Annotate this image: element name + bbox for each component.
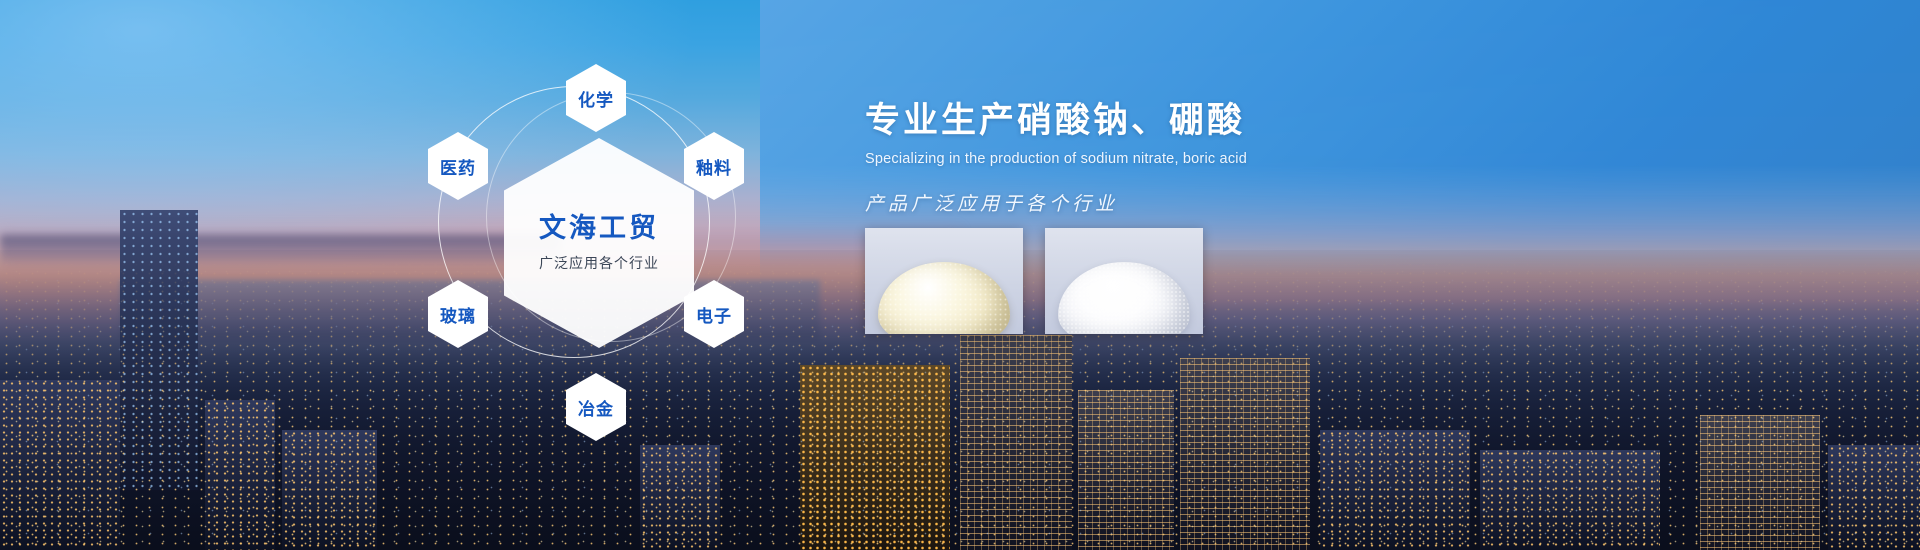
company-name: 文海工贸	[539, 213, 659, 244]
banner-subline: Specializing in the production of sodium…	[865, 151, 1505, 167]
banner-copy-block: 专业生产硝酸钠、硼酸 Specializing in the productio…	[865, 100, 1505, 216]
hex-label-chemistry: 化学	[578, 86, 614, 111]
hex-node-metallurgy[interactable]: 冶金	[566, 373, 626, 441]
hex-label-glass: 玻璃	[440, 302, 476, 327]
hex-label-glaze: 釉料	[696, 154, 732, 179]
product-photo-boric-acid[interactable]	[1045, 228, 1203, 334]
company-tagline: 广泛应用各个行业	[539, 253, 659, 273]
promo-banner: 文海工贸 广泛应用各个行业 化学 釉料 电子 冶金 玻璃 医药 专业生产硝酸钠、…	[0, 0, 1920, 550]
product-photo-strip	[865, 228, 1203, 334]
banner-tagline: 产品广泛应用于各个行业	[865, 189, 1505, 216]
hex-label-medicine: 医药	[440, 154, 476, 179]
hex-label-electronics: 电子	[696, 302, 732, 327]
hex-label-metallurgy: 冶金	[578, 395, 614, 420]
product-photo-sodium-nitrate[interactable]	[865, 228, 1023, 334]
industry-hex-diagram: 文海工贸 广泛应用各个行业 化学 釉料 电子 冶金 玻璃 医药	[408, 28, 780, 438]
banner-headline: 专业生产硝酸钠、硼酸	[865, 100, 1505, 141]
